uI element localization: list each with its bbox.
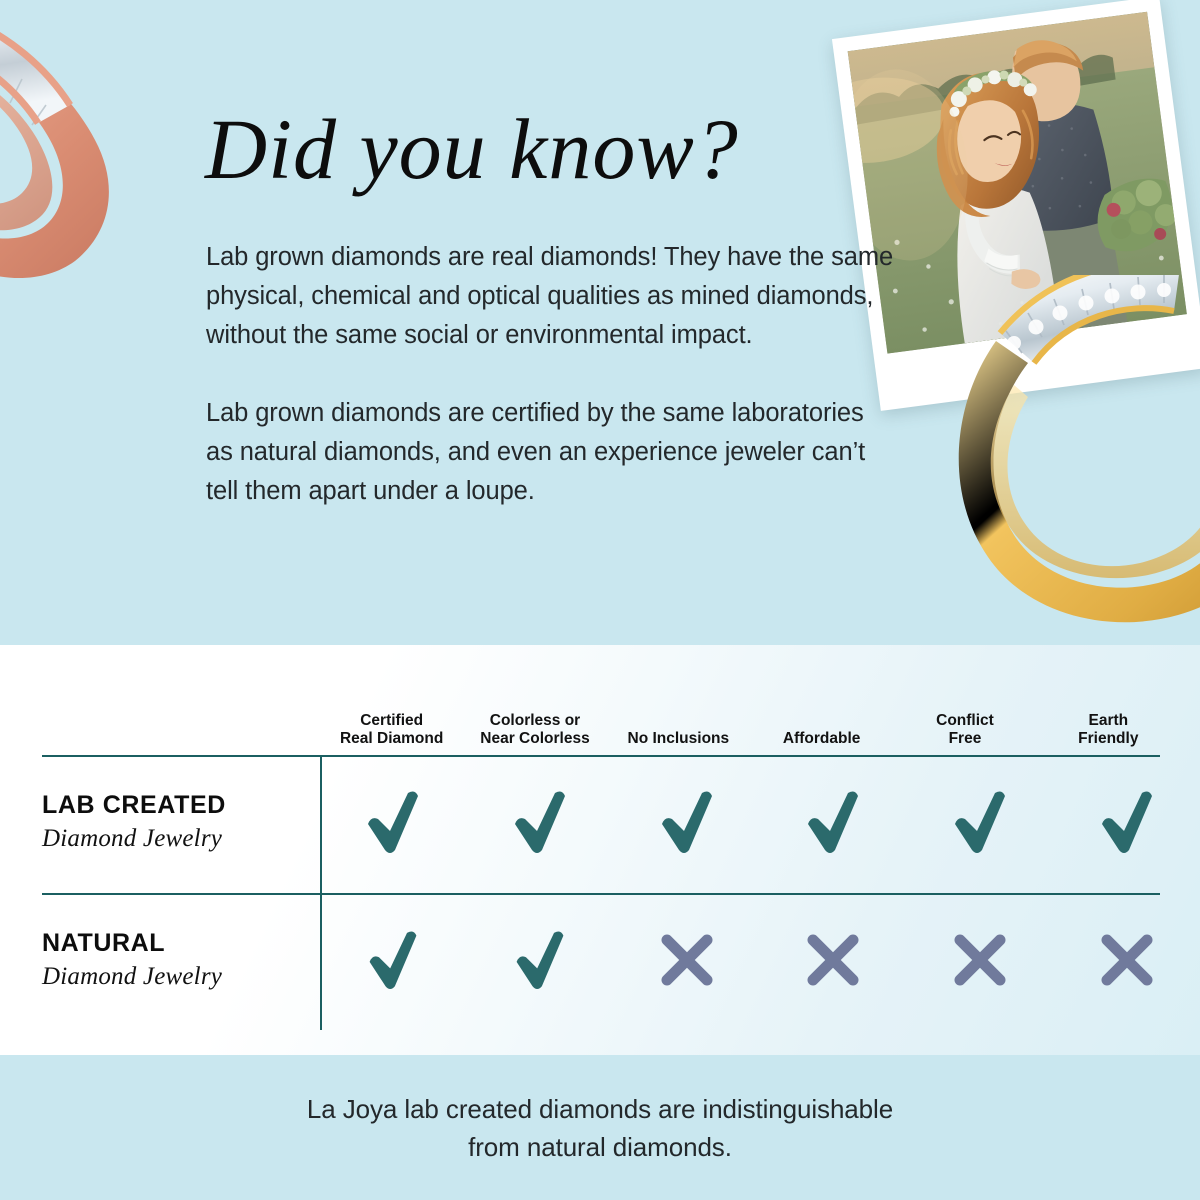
page-title: Did you know? xyxy=(205,104,739,194)
footer-caption-line2: from natural diamonds. xyxy=(468,1132,732,1162)
check-icon xyxy=(802,788,864,861)
table-column-headers: Certified Real Diamond Colorless or Near… xyxy=(320,690,1180,750)
column-header-line1: No Inclusions xyxy=(628,730,730,748)
infographic-root: Did you know? Lab grown diamonds are rea… xyxy=(0,0,1200,1200)
column-header-earth-friendly: Earth Friendly xyxy=(1037,690,1180,750)
cross-icon xyxy=(951,931,1009,994)
intro-copy: Lab grown diamonds are real diamonds! Th… xyxy=(206,238,896,511)
column-header-line2: Real Diamond xyxy=(340,730,443,748)
table-row: LAB CREATED Diamond Jewelry xyxy=(0,755,1200,893)
column-header-line2: Near Colorless xyxy=(480,730,589,748)
hero-section: Did you know? Lab grown diamonds are rea… xyxy=(0,0,1200,645)
row-label-natural: NATURAL Diamond Jewelry xyxy=(0,930,320,993)
check-icon xyxy=(364,928,422,997)
column-header-line2: Free xyxy=(936,730,994,748)
column-header-certified-real-diamond: Certified Real Diamond xyxy=(320,690,463,750)
row-cells xyxy=(320,755,1200,893)
intro-paragraph-1: Lab grown diamonds are real diamonds! Th… xyxy=(206,238,896,355)
wedding-couple-photo xyxy=(848,12,1187,354)
row-cells xyxy=(320,893,1200,1031)
cell-lab-created-affordable xyxy=(760,788,907,861)
column-header-line2: Friendly xyxy=(1078,730,1138,748)
cell-natural-certified-real-diamond xyxy=(320,928,467,997)
cell-lab-created-colorless-or-near-colorless xyxy=(467,788,614,861)
check-icon xyxy=(1096,788,1158,861)
cell-natural-colorless-or-near-colorless xyxy=(467,928,614,997)
check-icon xyxy=(511,928,569,997)
rose-gold-diamond-ring-image xyxy=(0,0,180,295)
row-label-lab-created: LAB CREATED Diamond Jewelry xyxy=(0,792,320,855)
row-subtitle: Diamond Jewelry xyxy=(42,960,320,994)
row-title: NATURAL xyxy=(42,930,320,958)
intro-paragraph-2: Lab grown diamonds are certified by the … xyxy=(206,394,896,511)
footer-caption-line1: La Joya lab created diamonds are indisti… xyxy=(307,1094,893,1124)
check-icon xyxy=(656,788,718,861)
column-header-line1: Colorless or xyxy=(480,712,589,730)
column-header-no-inclusions: No Inclusions xyxy=(607,690,750,750)
cell-lab-created-earth-friendly xyxy=(1053,788,1200,861)
cross-icon xyxy=(658,931,716,994)
cross-icon xyxy=(1098,931,1156,994)
cell-lab-created-certified-real-diamond xyxy=(320,788,467,861)
cell-natural-no-inclusions xyxy=(613,931,760,994)
column-header-line1: Conflict xyxy=(936,712,994,730)
column-header-line1: Affordable xyxy=(783,730,861,748)
comparison-table: Certified Real Diamond Colorless or Near… xyxy=(0,645,1200,1055)
column-header-line1: Earth xyxy=(1078,712,1138,730)
row-subtitle: Diamond Jewelry xyxy=(42,822,320,856)
cell-lab-created-conflict-free xyxy=(907,788,1054,861)
footer-band: La Joya lab created diamonds are indisti… xyxy=(0,1055,1200,1200)
column-header-conflict-free: Conflict Free xyxy=(893,690,1036,750)
cross-icon xyxy=(804,931,862,994)
cell-natural-affordable xyxy=(760,931,907,994)
cell-lab-created-no-inclusions xyxy=(613,788,760,861)
cell-natural-conflict-free xyxy=(907,931,1054,994)
cell-natural-earth-friendly xyxy=(1053,931,1200,994)
check-icon xyxy=(949,788,1011,861)
column-header-line1: Certified xyxy=(340,712,443,730)
column-header-colorless-or-near-colorless: Colorless or Near Colorless xyxy=(463,690,606,750)
column-header-affordable: Affordable xyxy=(750,690,893,750)
row-title: LAB CREATED xyxy=(42,792,320,820)
check-icon xyxy=(509,788,571,861)
footer-caption: La Joya lab created diamonds are indisti… xyxy=(307,1090,893,1166)
table-row: NATURAL Diamond Jewelry xyxy=(0,893,1200,1031)
check-icon xyxy=(362,788,424,861)
